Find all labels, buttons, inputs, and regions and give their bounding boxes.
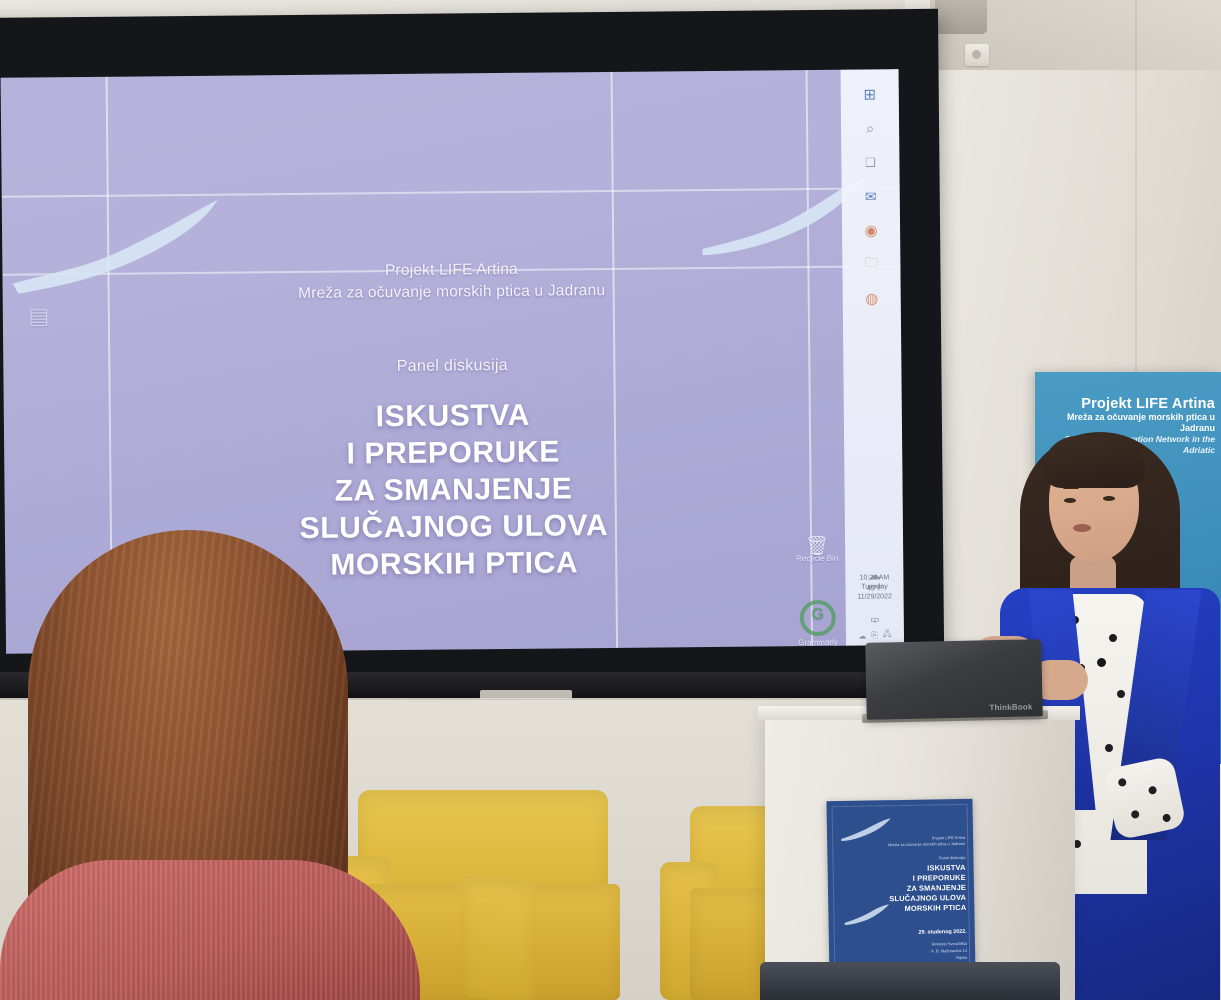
gull-silhouette-icon	[844, 904, 890, 927]
grammarly-icon: G	[800, 600, 836, 636]
desktop-icon-document[interactable]: ▤	[17, 311, 61, 323]
chair-arm-left-front	[460, 874, 536, 1000]
poster-title-line-2: I PREPORUKE	[913, 873, 966, 884]
podium-poster: Projekt LIFE Artina Mreža za očuvanje mo…	[826, 799, 975, 980]
laptop-brand-label: ThinkBook	[989, 702, 1032, 712]
desktop-icon-label: Recycle Bin	[796, 554, 838, 563]
poster-title-line-1: ISKUSTVA	[927, 863, 966, 873]
onedrive-icon[interactable]: ☁	[858, 631, 866, 640]
screen-pull-tab[interactable]	[480, 690, 572, 699]
notification-center-icon[interactable]: ▭	[846, 614, 904, 626]
desktop-icon-label: Grammarly	[798, 638, 838, 647]
poster-address-line-1: Rektorat Sveučilišta	[932, 941, 967, 947]
speaker-eye-right	[1103, 496, 1115, 501]
foreground-table-edge	[760, 962, 1060, 1000]
tray-icon-group[interactable]: ☁ ⎘ 🖧	[846, 628, 904, 643]
poster-title-line-5: MORSKIH PTICA	[905, 903, 967, 914]
firefox-icon[interactable]: ◍	[843, 281, 901, 316]
poster-address-line-3: Rijeka	[956, 955, 967, 961]
mail-icon[interactable]: ✉	[842, 179, 900, 214]
sweater-texture	[0, 860, 420, 1000]
banner-subheading-hr: Mreža za očuvanje morskih ptica u Jadran…	[1035, 412, 1215, 434]
document-icon: ▤	[17, 311, 61, 321]
slide-panel-label: Panel diskusija	[3, 353, 901, 380]
taskbar-clock[interactable]: 10:24 AM Tuesday 11/29/2022	[845, 573, 903, 602]
recycle-bin-icon: 🗑	[793, 542, 841, 552]
wall-fixture-icon	[965, 44, 989, 66]
task-view-icon[interactable]: ❑	[841, 145, 899, 180]
speaker-mouth	[1073, 524, 1091, 532]
projector-mount-bracket	[935, 0, 987, 34]
desktop-icon-grammarly[interactable]: G Grammarly	[794, 600, 842, 648]
poster-panel-label: Panel diskusija	[939, 855, 966, 861]
poster-address-line-2: A. B. Mažuranića 14	[931, 948, 967, 954]
audience-member-sweater	[0, 860, 420, 1000]
windows-start-icon[interactable]: ⊞	[841, 77, 899, 112]
search-icon[interactable]: ⌕	[841, 111, 899, 146]
windows-taskbar[interactable]: ⊞ ⌕ ❑ ✉ ◉ 🗀 ◍	[841, 69, 905, 646]
speaker-eye-left	[1064, 498, 1076, 503]
banner-heading: Projekt LIFE Artina	[1035, 396, 1215, 412]
speaker-sleeve-cuff	[1103, 756, 1186, 841]
lapel-microphone-icon	[1097, 658, 1106, 667]
chrome-icon[interactable]: ◉	[842, 213, 900, 248]
clock-day: Tuesday	[845, 582, 903, 592]
clock-time: 10:24 AM	[845, 573, 903, 583]
poster-title-line-3: ZA SMANJENJE	[907, 883, 966, 894]
file-explorer-icon[interactable]: 🗀	[842, 247, 900, 282]
poster-date: 29. studenog 2022.	[918, 929, 966, 936]
network-icon[interactable]: ⎘	[871, 630, 878, 640]
clock-date: 11/29/2022	[846, 592, 904, 602]
gull-silhouette-icon	[841, 818, 893, 843]
bluetooth-icon[interactable]: 🖧	[883, 628, 892, 642]
conference-room-photo: Projekt LIFE Artina Mreža za očuvanje mo…	[0, 0, 1221, 1000]
speaker-hair-fringe	[1043, 436, 1145, 488]
desktop-icon-recycle-bin[interactable]: 🗑 Recycle Bin	[793, 542, 841, 564]
laptop[interactable]: ThinkBook	[865, 639, 1043, 720]
